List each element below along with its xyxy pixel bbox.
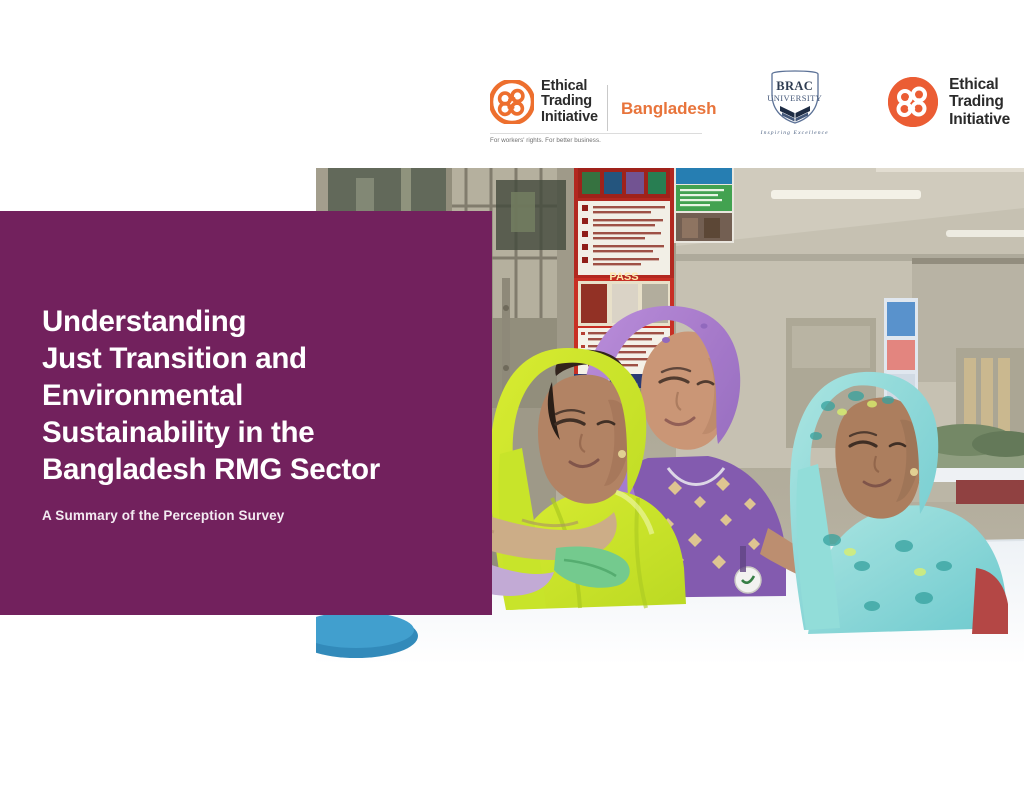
eti-logo: Ethical Trading Initiative xyxy=(888,76,1010,129)
eti-tagline: For workers' rights. For better business… xyxy=(490,133,702,144)
eti-solid-line-1: Ethical xyxy=(949,76,1010,94)
eti-word-line-3: Initiative xyxy=(541,110,598,126)
logo-divider xyxy=(607,85,608,131)
brac-shield-book-icon: BRAC UNIVERSITY xyxy=(759,68,831,126)
title-line-2: Just Transition and xyxy=(42,340,462,377)
eti-circular-mark-icon xyxy=(490,80,534,124)
eti-bangladesh-logo: Ethical Trading Initiative Bangladesh Fo… xyxy=(490,79,699,126)
title-line-5: Bangladesh RMG Sector xyxy=(42,451,462,488)
page-subtitle: A Summary of the Perception Survey xyxy=(42,508,284,523)
eti-solid-line-2: Trading xyxy=(949,93,1010,111)
brac-university-word: UNIVERSITY xyxy=(759,93,831,103)
eti-solid-circle-mark-icon xyxy=(888,77,938,127)
logo-bar: Ethical Trading Initiative Bangladesh Fo… xyxy=(490,62,1010,142)
eti-solid-line-3: Initiative xyxy=(949,111,1010,129)
eti-bangladesh-wordmark: Ethical Trading Initiative xyxy=(541,79,598,126)
eti-wordmark: Ethical Trading Initiative xyxy=(949,76,1010,129)
eti-word-line-1: Ethical xyxy=(541,79,598,95)
eti-word-line-2: Trading xyxy=(541,94,598,110)
brac-tagline: Inspiring Excellence xyxy=(747,130,842,136)
brac-university-logo: BRAC UNIVERSITY Inspiring Excellence xyxy=(747,68,842,136)
title-line-3: Environmental xyxy=(42,377,462,414)
title-banner: Understanding Just Transition and Enviro… xyxy=(0,211,492,615)
eti-partner-label: Bangladesh xyxy=(621,99,716,119)
page-title: Understanding Just Transition and Enviro… xyxy=(42,303,462,488)
title-line-4: Sustainability in the xyxy=(42,414,462,451)
title-line-1: Understanding xyxy=(42,303,462,340)
brac-name: BRAC xyxy=(759,79,831,94)
eti-bangladesh-lockup: Ethical Trading Initiative xyxy=(490,79,598,126)
